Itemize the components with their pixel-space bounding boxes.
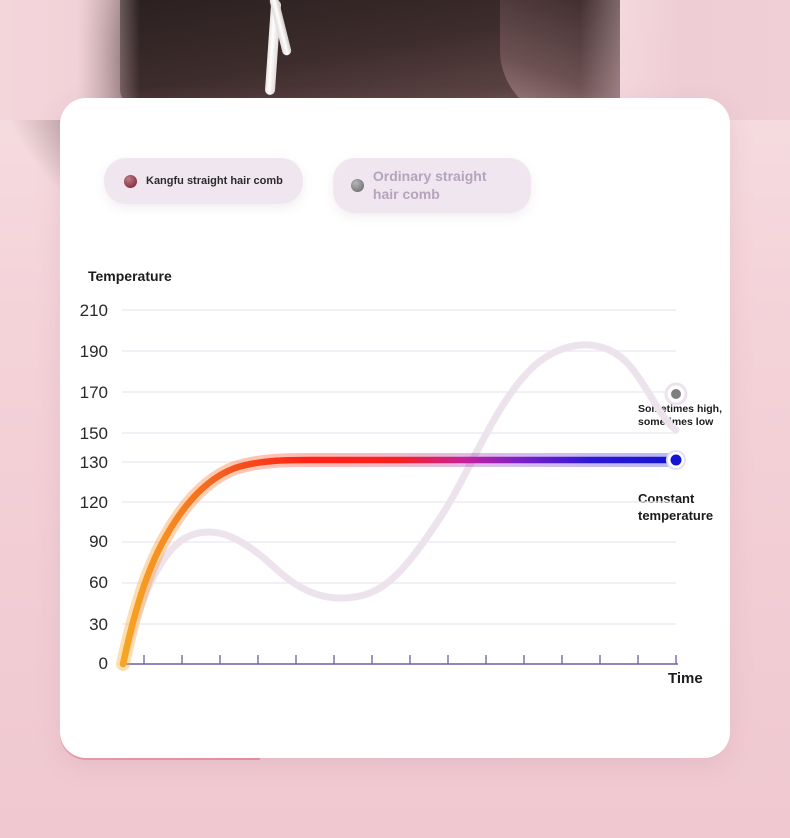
endpoint-ordinary [666,384,686,404]
endpoint-kangfu [667,451,685,469]
x-axis-ticks [144,655,676,664]
series-ordinary-line [123,345,676,664]
line-chart-svg [60,98,730,758]
chart-card: Kangfu straight hair comb Ordinary strai… [60,98,730,758]
series-kangfu-glow [123,460,676,664]
